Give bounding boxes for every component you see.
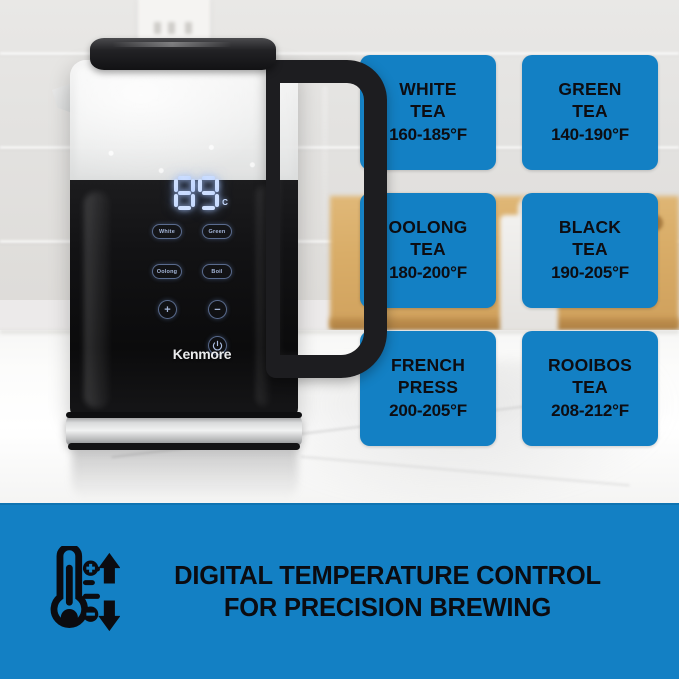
electric-kettle: C White Green Oolong Boil + − Kenmore [34, 34, 334, 464]
decrease-temperature-button[interactable]: − [208, 300, 227, 319]
kettle-lid-highlight [112, 42, 232, 47]
product-marketing-image: C White Green Oolong Boil + − Kenmore WH… [0, 0, 679, 679]
oolong-tea-preset-button[interactable]: Oolong [152, 264, 182, 279]
tea-kind: TEA [572, 239, 608, 260]
tea-temp: 200-205°F [389, 401, 467, 422]
tea-temp: 160-185°F [389, 125, 467, 146]
green-tea-preset-button[interactable]: Green [202, 224, 232, 239]
tea-kind: TEA [572, 101, 608, 122]
tea-name: WHITE [399, 79, 456, 100]
led-digit-ones [198, 176, 219, 210]
tea-temp: 190-205°F [551, 263, 629, 284]
tea-card-rooibos[interactable]: ROOIBOS TEA 208-212°F [522, 331, 658, 446]
white-tea-preset-button[interactable]: White [152, 224, 182, 239]
brand-logo: Kenmore [132, 346, 272, 362]
banner-line-1: DIGITAL TEMPERATURE CONTROL [120, 560, 655, 592]
tea-temp: 140-190°F [551, 125, 629, 146]
boil-preset-button[interactable]: Boil [202, 264, 232, 279]
tea-kind: TEA [572, 377, 608, 398]
kettle-control-panel[interactable]: C White Green Oolong Boil + − [146, 172, 256, 357]
kettle-handle[interactable] [266, 60, 350, 332]
led-digit-tens [174, 176, 195, 210]
temperature-unit: C [222, 198, 228, 207]
tea-name: BLACK [559, 217, 621, 238]
tea-temperature-cards: WHITE TEA 160-185°F GREEN TEA 140-190°F … [360, 55, 660, 455]
tea-card-black[interactable]: BLACK TEA 190-205°F [522, 193, 658, 308]
kettle-reflection [72, 448, 298, 500]
kettle-highlight [84, 192, 110, 408]
temperature-display: C [164, 172, 238, 210]
tea-name: ROOIBOS [548, 355, 632, 376]
banner-line-2: FOR PRECISION BREWING [120, 592, 655, 624]
tea-name: FRENCH [391, 355, 465, 376]
tea-kind: PRESS [398, 377, 458, 398]
banner-text: DIGITAL TEMPERATURE CONTROL FOR PRECISIO… [120, 560, 679, 624]
handle-highlight [322, 86, 328, 256]
tea-kind: TEA [410, 101, 446, 122]
tea-name: OOLONG [389, 217, 468, 238]
feature-banner: DIGITAL TEMPERATURE CONTROL FOR PRECISIO… [0, 505, 679, 679]
kettle-stainless-base [66, 416, 302, 446]
kettle-base-trim [68, 443, 300, 450]
tea-temp: 208-212°F [551, 401, 629, 422]
thermometer-with-up-down-arrows-icon [34, 546, 120, 638]
increase-temperature-button[interactable]: + [158, 300, 177, 319]
tea-card-green[interactable]: GREEN TEA 140-190°F [522, 55, 658, 170]
kettle-base-trim [66, 412, 302, 418]
tea-name: GREEN [558, 79, 621, 100]
tea-kind: TEA [410, 239, 446, 260]
tea-temp: 180-200°F [389, 263, 467, 284]
